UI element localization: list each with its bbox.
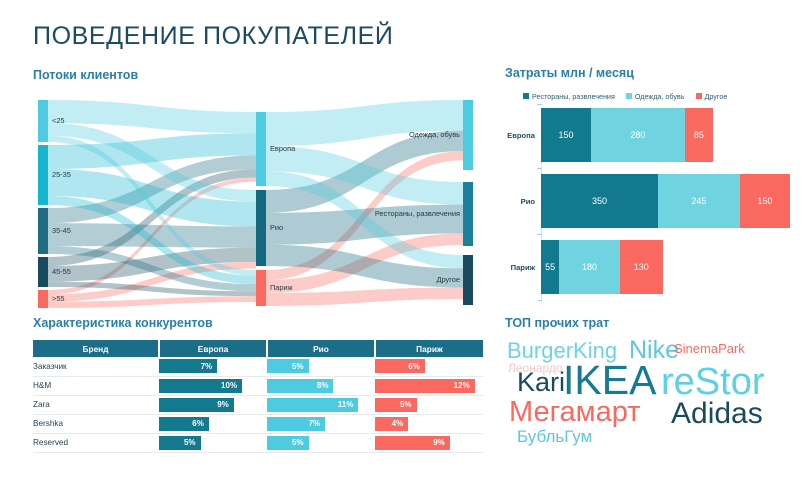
bar-value-label: 245 [691,196,706,206]
legend-label: Другое [705,92,728,101]
bar-value-label: 280 [630,130,645,140]
cell-value: 7% [201,362,213,371]
word-cloud-word: SinemaPark [674,342,745,355]
table-row: H&M10%8%12% [33,376,483,395]
cell-bar: 5% [159,436,201,450]
legend-swatch-icon [626,93,632,99]
axis-tick [537,300,542,301]
bar-value-label: 150 [559,130,574,140]
cell-bar: 6% [375,359,425,373]
percent-cell: 5% [267,433,375,452]
brand-cell: Bershka [33,414,159,433]
table-row: Zara9%11%5% [33,395,483,414]
word-cloud-word: Kari [517,369,565,396]
cell-bar: 7% [159,359,217,373]
bar-segment: 130 [620,240,663,294]
dashboard: ПОВЕДЕНИЕ ПОКУПАТЕЛЕЙ Потоки клиентов За… [0,0,812,478]
bar-segment: 180 [559,240,619,294]
axis-tick [537,168,542,169]
cell-value: 9% [217,400,229,409]
cell-bar: 5% [267,359,309,373]
cell-bar: 11% [267,398,358,412]
sankey-canvas [28,88,488,310]
sankey-node [256,270,266,306]
word-cloud-word: Мегамарт [509,398,641,427]
table-column-header: Париж [375,340,483,357]
legend-label: Рестораны, развлечения [532,92,615,101]
percent-cell: 5% [159,433,267,452]
bar-track: 15028085 [541,108,713,162]
cell-value: 10% [221,381,237,390]
brand-cell: Заказчик [33,357,159,376]
sankey-node [463,255,473,305]
bar-row: Париж55180130 [505,240,797,294]
bar-row: Рио350245150 [505,174,797,228]
percent-cell: 11% [267,395,375,414]
percent-cell: 6% [375,357,483,376]
table-column-header: Бренд [33,340,159,357]
cell-bar: 10% [159,379,242,393]
word-cloud-word: Adidas [671,399,763,429]
word-cloud-word: reStor [661,363,764,401]
legend-swatch-icon [523,93,529,99]
sankey-node [463,100,473,170]
bar-segment: 350 [541,174,658,228]
word-cloud-word: БубльГум [517,428,592,445]
bar-value-label: 55 [545,262,555,272]
cell-value: 7% [309,419,321,428]
cell-bar: 9% [375,436,450,450]
cell-bar: 4% [375,417,408,431]
sankey-node [463,182,473,246]
cell-value: 9% [433,438,445,447]
section-title-competitors: Характеристика конкурентов [33,316,213,330]
cell-value: 5% [292,362,304,371]
sankey-node [38,257,48,287]
legend-label: Одежда, обувь [635,92,685,101]
legend-item: Рестораны, развлечения [523,92,615,101]
bar-value-label: 350 [592,196,607,206]
spend-chart-legend: Рестораны, развлеченияОдежда, обувьДруго… [505,88,797,104]
table-column-header: Рио [267,340,375,357]
bar-segment: 245 [658,174,740,228]
bar-segment: 150 [740,174,790,228]
brand-cell: Reserved [33,433,159,452]
cell-bar: 12% [375,379,475,393]
bar-track: 350245150 [541,174,790,228]
percent-cell: 7% [267,414,375,433]
cell-bar: 9% [159,398,234,412]
cell-value: 5% [292,438,304,447]
percent-cell: 8% [267,376,375,395]
bar-category-label: Париж [505,263,541,272]
sankey-node [38,100,48,142]
cell-value: 4% [392,419,404,428]
sankey-diagram: <2525-3535-4545-55>55ЕвропаРиоПарижОдежд… [28,88,488,310]
percent-cell: 4% [375,414,483,433]
sankey-node [38,145,48,205]
table-body: Заказчик7%5%6%H&M10%8%12%Zara9%11%5%Bers… [33,357,483,452]
cell-bar: 5% [267,436,309,450]
table-header-row: БрендЕвропаРиоПариж [33,340,483,357]
percent-cell: 5% [375,395,483,414]
cell-bar: 8% [267,379,333,393]
bar-category-label: Рио [505,197,541,206]
percent-cell: 12% [375,376,483,395]
bar-segment: 85 [685,108,713,162]
bar-track: 55180130 [541,240,663,294]
percent-cell: 10% [159,376,267,395]
axis-tick [537,104,542,105]
bar-value-label: 150 [757,196,772,206]
cell-value: 5% [400,400,412,409]
sankey-node [38,208,48,254]
competitors-table-wrap: БрендЕвропаРиоПариж Заказчик7%5%6%H&M10%… [33,340,483,453]
bar-row: Европа15028085 [505,108,797,162]
section-title-top-expenses: ТОП прочих трат [505,316,609,330]
cell-value: 6% [408,362,420,371]
percent-cell: 5% [267,357,375,376]
percent-cell: 7% [159,357,267,376]
table-row: Заказчик7%5%6% [33,357,483,376]
percent-cell: 9% [375,433,483,452]
bar-value-label: 130 [634,262,649,272]
section-title-flows: Потоки клиентов [33,68,138,82]
spend-chart: Рестораны, развлеченияОдежда, обувьДруго… [505,88,797,303]
axis-tick [537,234,542,235]
word-cloud-word: IKEA [563,360,656,401]
page-title: ПОВЕДЕНИЕ ПОКУПАТЕЛЕЙ [33,22,393,51]
cell-bar: 7% [267,417,325,431]
table-row: Reserved5%5%9% [33,433,483,452]
cell-value: 11% [338,400,354,409]
bar-segment: 150 [541,108,591,162]
section-title-spend: Затраты млн / месяц [505,66,634,80]
table-row: Bershka6%7%4% [33,414,483,433]
bar-value-label: 180 [582,262,597,272]
sankey-node [38,290,48,308]
cell-bar: 5% [375,398,417,412]
percent-cell: 9% [159,395,267,414]
sankey-node [256,112,266,186]
bar-value-label: 85 [694,130,704,140]
cell-value: 12% [454,381,470,390]
word-cloud: BurgerKingNikeSinemaParkЛеонардоKariIKEA… [503,336,803,456]
sankey-node [256,190,266,266]
bar-segment: 55 [541,240,559,294]
competitors-table: БрендЕвропаРиоПариж Заказчик7%5%6%H&M10%… [33,340,483,453]
bar-segment: 280 [591,108,685,162]
percent-cell: 6% [159,414,267,433]
table-column-header: Европа [159,340,267,357]
cell-value: 5% [184,438,196,447]
spend-chart-plot: Европа15028085Рио350245150Париж55180130 [505,108,797,300]
legend-item: Одежда, обувь [626,92,685,101]
brand-cell: Zara [33,395,159,414]
bar-category-label: Европа [505,131,541,140]
legend-swatch-icon [696,93,702,99]
brand-cell: H&M [33,376,159,395]
legend-item: Другое [696,92,728,101]
cell-value: 8% [317,381,329,390]
cell-value: 6% [192,419,204,428]
cell-bar: 6% [159,417,209,431]
